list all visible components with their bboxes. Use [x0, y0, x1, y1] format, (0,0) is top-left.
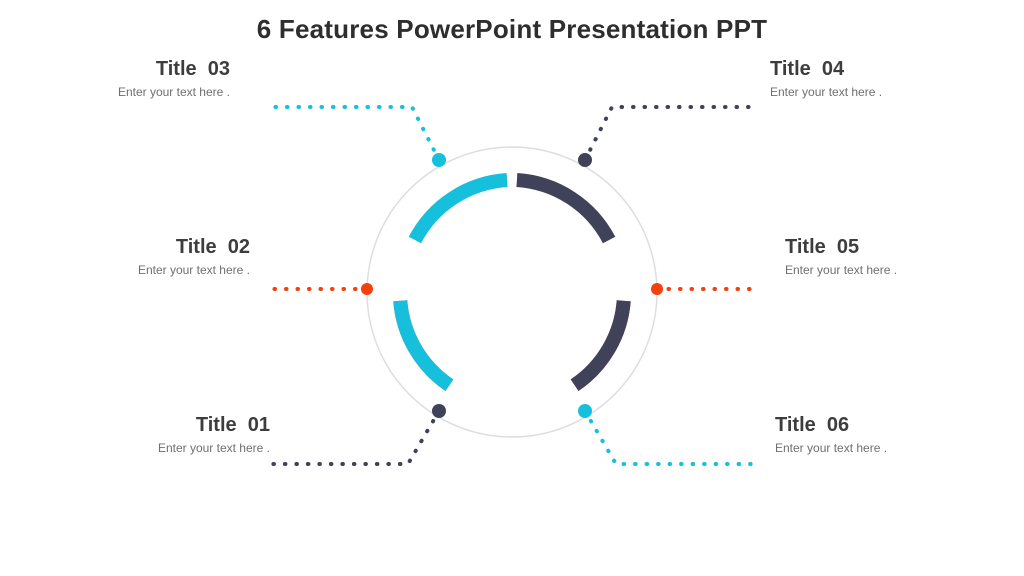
feature-title-06: Title 06 [775, 414, 990, 437]
feature-title-05: Title 05 [785, 236, 990, 259]
connector-line-title-06 [585, 411, 758, 464]
feature-title-01: Title 01 [40, 414, 270, 437]
outer-guide-circle [367, 147, 657, 437]
feature-subtitle-05: Enter your text here . [785, 264, 990, 278]
feature-title-03: Title 03 [35, 58, 230, 81]
connector-dot-title-05[interactable] [651, 283, 663, 295]
connector-dot-title-01[interactable] [432, 404, 446, 418]
feature-label-title-06[interactable]: Title 06 Enter your text here . [775, 414, 990, 456]
feature-title-02: Title 02 [15, 236, 250, 259]
presentation-slide: 6 Features PowerPoint Presentation PPT [0, 0, 1024, 576]
donut-segment-title-06[interactable] [400, 301, 449, 385]
connector-line-title-03 [268, 107, 439, 160]
feature-subtitle-02: Enter your text here . [15, 264, 250, 278]
feature-label-title-02[interactable]: Title 02 Enter your text here . [15, 236, 250, 278]
donut-segment-title-01[interactable] [575, 301, 624, 385]
connector-dot-title-03[interactable] [432, 153, 446, 167]
connector-line-title-01 [268, 411, 439, 464]
feature-label-title-05[interactable]: Title 05 Enter your text here . [785, 236, 990, 278]
connector-dot-title-02[interactable] [361, 283, 373, 295]
feature-subtitle-04: Enter your text here . [770, 86, 990, 100]
feature-label-title-01[interactable]: Title 01 Enter your text here . [40, 414, 270, 456]
connector-dot-title-06[interactable] [578, 404, 592, 418]
feature-label-title-03[interactable]: Title 03 Enter your text here . [35, 58, 230, 100]
feature-subtitle-06: Enter your text here . [775, 442, 990, 456]
feature-subtitle-03: Enter your text here . [35, 86, 230, 100]
connector-line-title-04 [585, 107, 758, 160]
feature-label-title-04[interactable]: Title 04 Enter your text here . [770, 58, 990, 100]
connector-dot-title-04[interactable] [578, 153, 592, 167]
donut-segment-title-03[interactable] [415, 180, 507, 240]
feature-title-04: Title 04 [770, 58, 990, 81]
donut-segment-title-04[interactable] [517, 180, 609, 240]
feature-subtitle-01: Enter your text here . [40, 442, 270, 456]
